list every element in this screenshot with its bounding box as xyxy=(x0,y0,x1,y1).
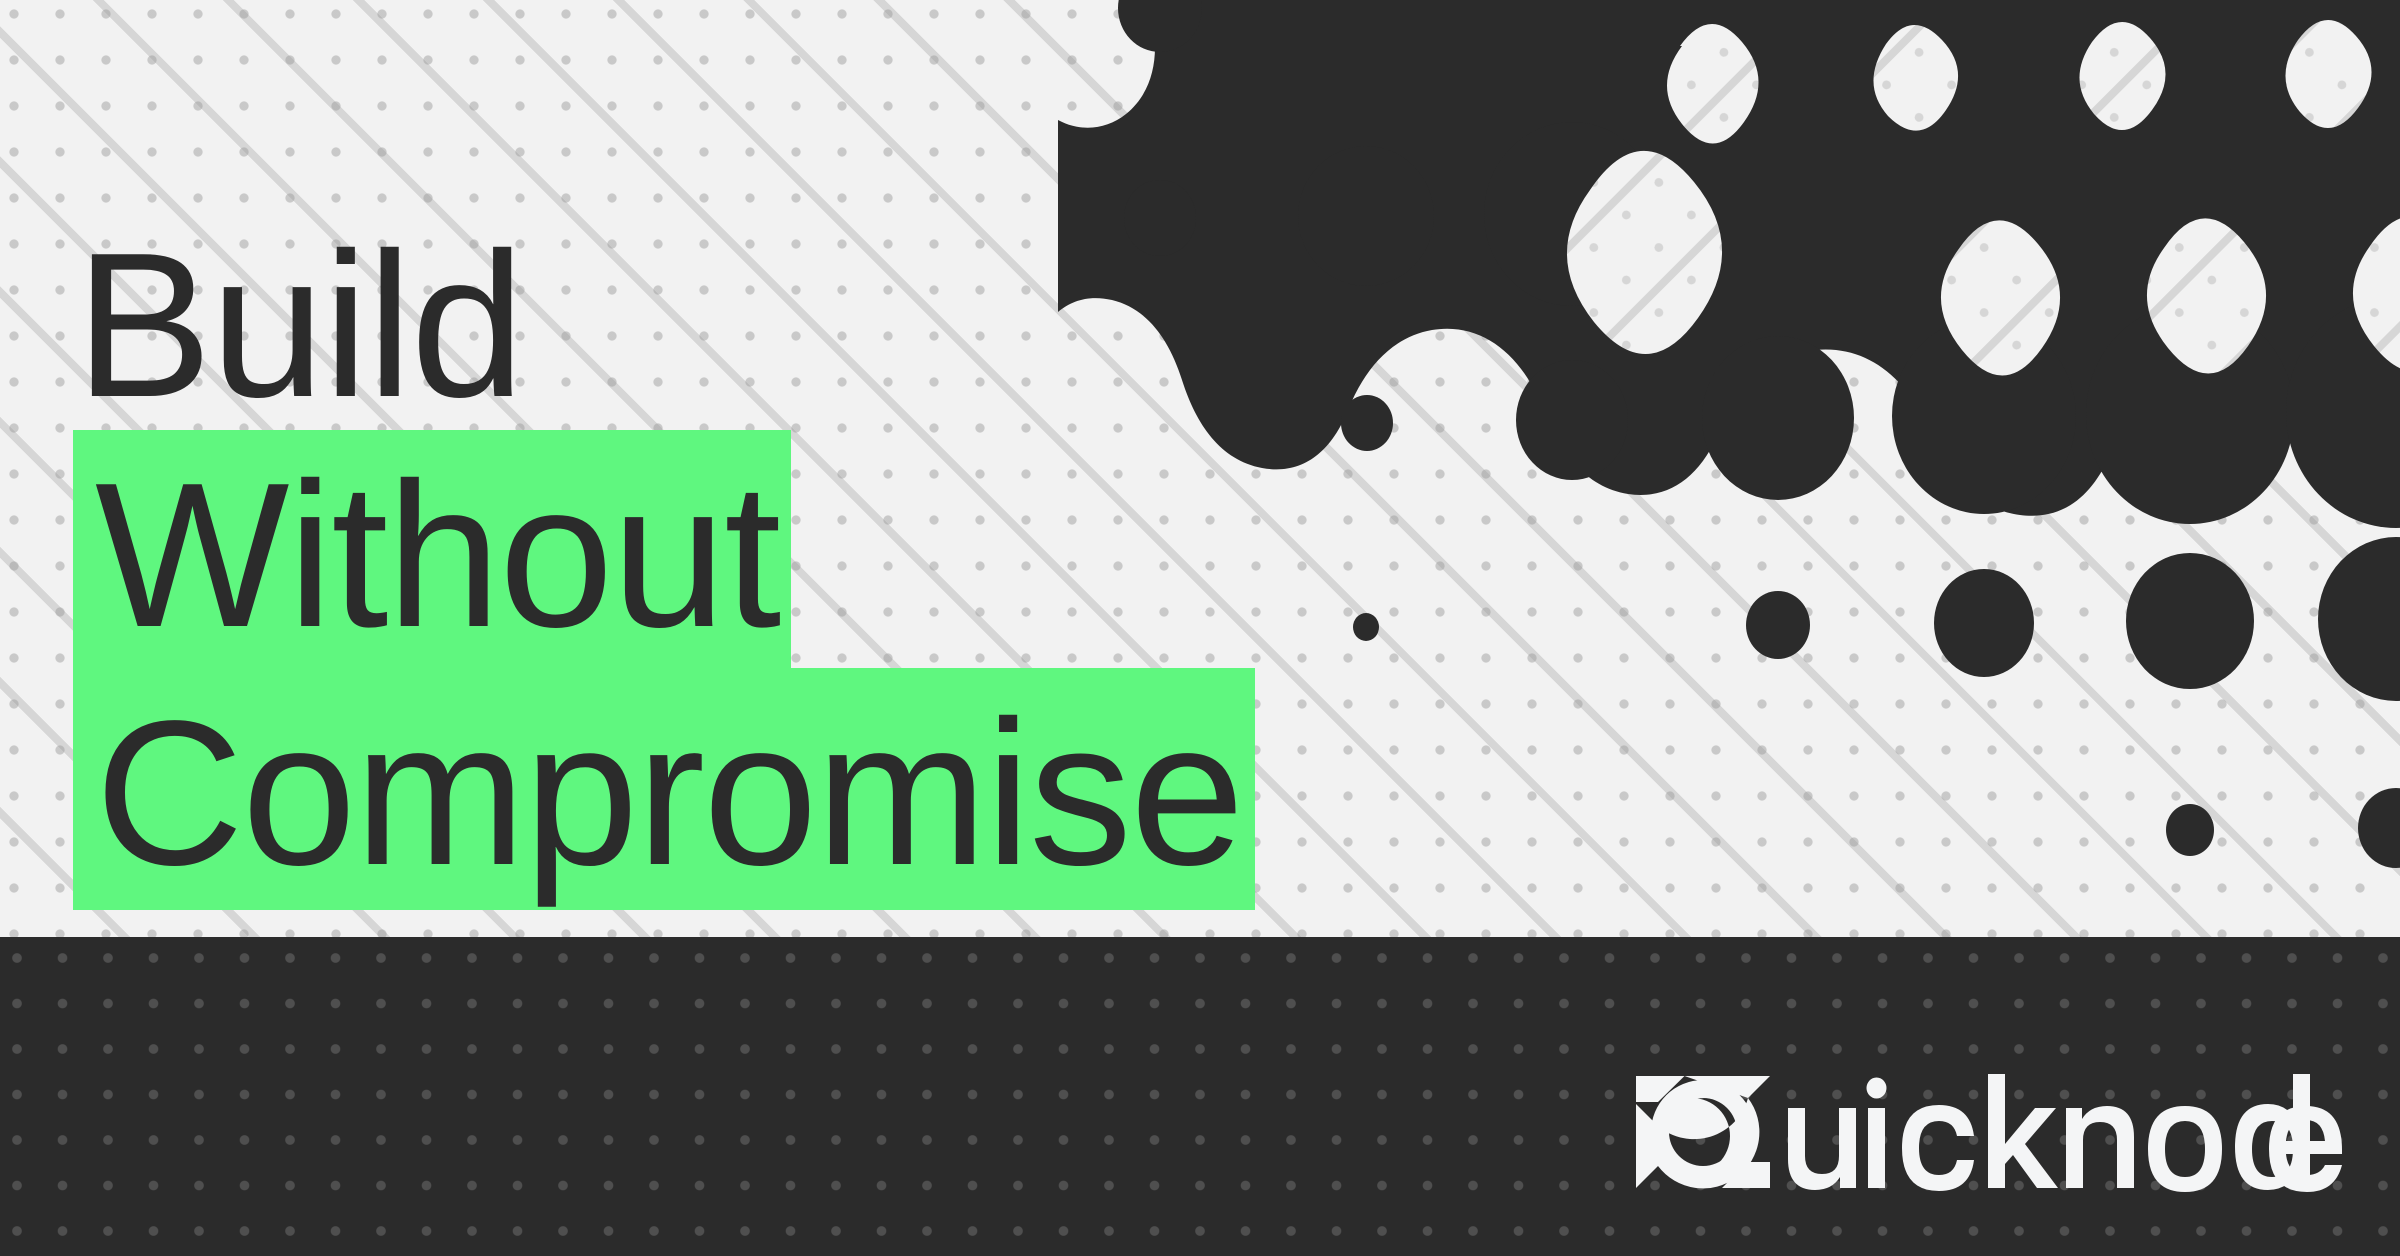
quicknode-logo[interactable] xyxy=(1622,1074,2342,1192)
headline-line-3: Compromise xyxy=(95,668,1545,910)
hero-panel: Build Without Compromise xyxy=(0,0,2400,937)
headline-line-3-text: Compromise xyxy=(73,668,1255,910)
headline-line-1-text: Build xyxy=(75,210,523,440)
footer-bar xyxy=(0,937,2400,1256)
headline-line-2-text: Without xyxy=(73,430,791,672)
headline-line-2: Without xyxy=(95,430,1545,672)
banner-canvas: Build Without Compromise xyxy=(0,0,2400,1256)
headline-line-1: Build xyxy=(75,222,1545,428)
headline-block: Build Without Compromise xyxy=(95,222,1545,910)
